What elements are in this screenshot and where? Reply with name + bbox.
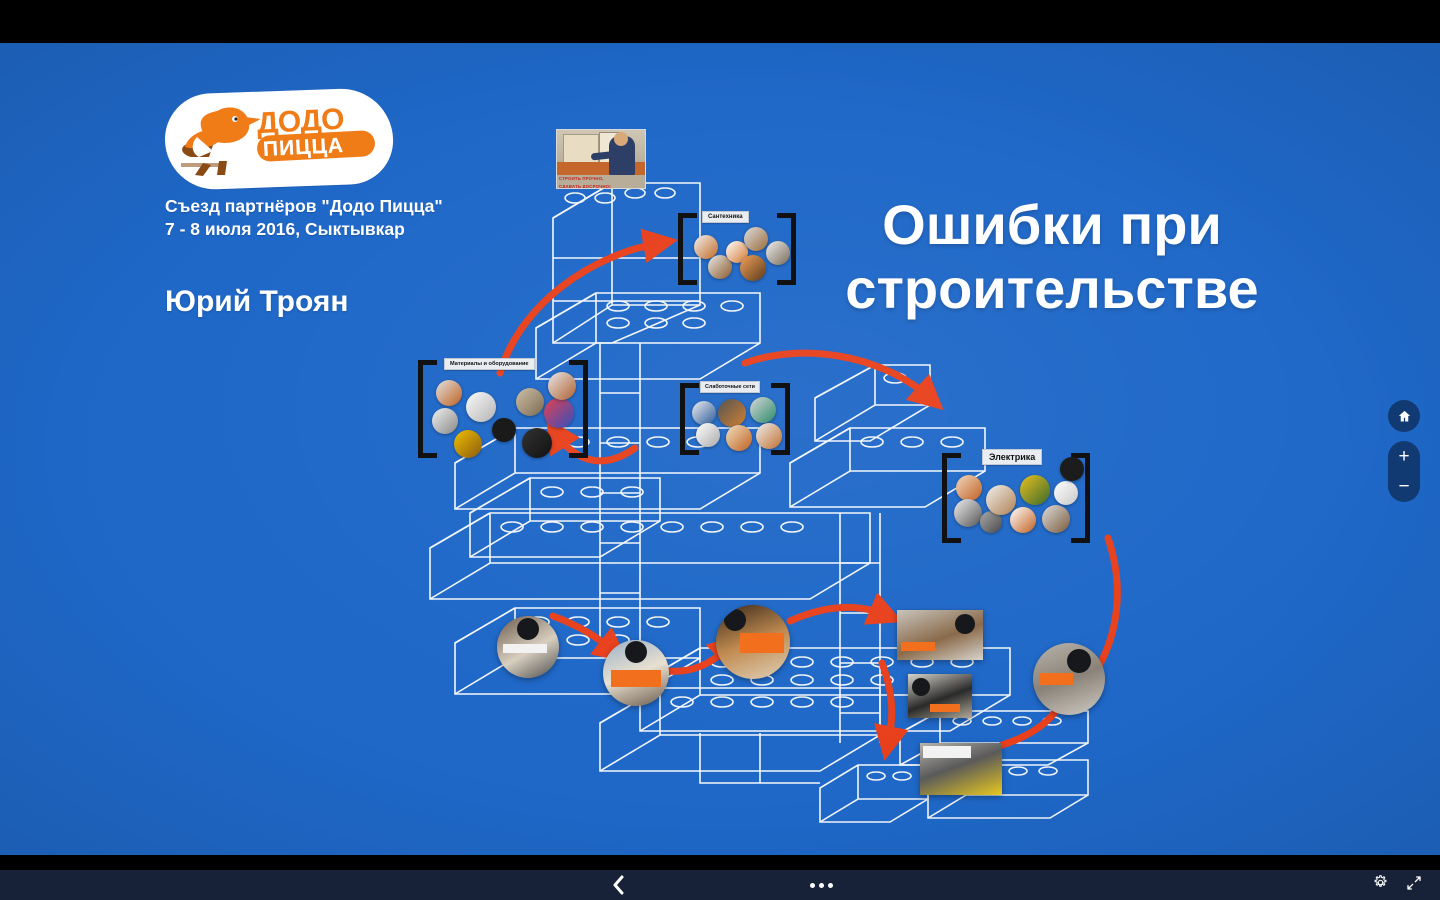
cluster-thumb[interactable]: [692, 401, 716, 425]
poster-caption-line-1: СТРОИТЬ ПРОЧНО,: [557, 175, 645, 183]
cluster-thumb[interactable]: [516, 388, 544, 416]
conference-date: 7 - 8 июля 2016, Сыктывкар: [165, 218, 635, 241]
zoom-controls[interactable]: + −: [1388, 441, 1420, 502]
cluster-label-elektrika: Электрика: [982, 449, 1042, 465]
photo-node[interactable]: [603, 640, 669, 706]
cluster-thumb[interactable]: [744, 227, 768, 251]
cluster-thumb[interactable]: [544, 398, 574, 428]
photo-node[interactable]: [897, 610, 983, 660]
cluster-thumb[interactable]: [436, 380, 462, 406]
cluster-thumb[interactable]: [548, 372, 576, 400]
letterbox-bottom: [0, 855, 1440, 870]
cluster-thumb[interactable]: [740, 255, 766, 281]
previous-slide-button[interactable]: [612, 870, 625, 900]
presentation-canvas[interactable]: ДОДО ПИЦЦА Съезд партнёров "Додо Пицца" …: [0, 43, 1440, 855]
poster-thumbnail[interactable]: СТРОИТЬ ПРОЧНО, СДАВАТЬ ДОСРОЧНО!: [556, 129, 646, 189]
cluster-thumb[interactable]: [750, 397, 776, 423]
poster-caption-line-2: СДАВАТЬ ДОСРОЧНО!: [557, 183, 645, 189]
cluster-thumb[interactable]: [696, 423, 720, 447]
cluster-thumb[interactable]: [522, 428, 552, 458]
menu-dot: [828, 883, 833, 888]
cluster-thumb[interactable]: [492, 418, 516, 442]
letterbox-top: [0, 0, 1440, 43]
cluster-thumb[interactable]: [466, 392, 496, 422]
player-toolbar: [0, 870, 1440, 900]
cluster-elektrika[interactable]: Электрика: [942, 453, 1090, 543]
photo-node[interactable]: [716, 605, 790, 679]
cluster-thumb[interactable]: [756, 423, 782, 449]
cluster-label-santehnika: Сантехника: [702, 211, 749, 223]
slide-title: Ошибки при строительстве: [772, 193, 1332, 321]
fullscreen-toggle-icon: [1406, 875, 1422, 891]
cluster-thumb[interactable]: [986, 485, 1016, 515]
cluster-santehnika[interactable]: Сантехника: [678, 213, 796, 285]
cluster-thumb[interactable]: [766, 241, 790, 265]
gear-icon: [1373, 875, 1388, 890]
cluster-thumb[interactable]: [1054, 481, 1078, 505]
brand-header: ДОДО ПИЦЦА Съезд партнёров "Додо Пицца" …: [165, 91, 635, 319]
dodo-pizza-logo: ДОДО ПИЦЦА: [165, 91, 393, 187]
presentation-viewer: ДОДО ПИЦЦА Съезд партнёров "Додо Пицца" …: [0, 0, 1440, 900]
cluster-thumb[interactable]: [1020, 475, 1050, 505]
cluster-thumb[interactable]: [1060, 457, 1084, 481]
cluster-label-slabotochnye-seti: Слаботочные сети: [700, 381, 760, 393]
home-icon: [1397, 409, 1412, 424]
cluster-thumb[interactable]: [454, 430, 482, 458]
logo-pizza-text: ПИЦЦА: [262, 134, 344, 162]
photo-node[interactable]: [908, 674, 972, 718]
cluster-thumb[interactable]: [432, 408, 458, 434]
settings-button[interactable]: [1373, 875, 1388, 895]
speaker-name: Юрий Троян: [165, 285, 635, 319]
zoom-in-button[interactable]: +: [1388, 447, 1420, 466]
cluster-slabotochnye-seti[interactable]: Слаботочные сети: [680, 383, 790, 453]
cluster-thumb[interactable]: [956, 475, 982, 501]
cluster-thumb[interactable]: [1010, 507, 1036, 533]
cluster-thumb[interactable]: [726, 425, 752, 451]
cluster-materialy[interactable]: Материалы и оборудование: [418, 360, 588, 460]
menu-dot: [819, 883, 824, 888]
photo-node[interactable]: [1033, 643, 1105, 715]
home-button[interactable]: [1388, 400, 1420, 432]
cluster-thumb[interactable]: [1042, 505, 1070, 533]
menu-dot: [810, 883, 815, 888]
photo-node[interactable]: [497, 616, 559, 678]
dodo-bird-icon: [173, 97, 261, 181]
cluster-thumb[interactable]: [954, 499, 982, 527]
zoom-out-button[interactable]: −: [1388, 477, 1420, 496]
slide-title-line-2: строительстве: [772, 257, 1332, 321]
chevron-left-icon: [612, 875, 625, 895]
slide-title-line-1: Ошибки при: [772, 193, 1332, 257]
more-options-button[interactable]: [808, 870, 835, 900]
photo-node[interactable]: [920, 743, 1002, 795]
fullscreen-button[interactable]: [1406, 875, 1422, 896]
cluster-label-materialy: Материалы и оборудование: [444, 358, 535, 370]
conference-title: Съезд партнёров "Додо Пицца": [165, 195, 635, 218]
cluster-thumb[interactable]: [718, 399, 746, 427]
